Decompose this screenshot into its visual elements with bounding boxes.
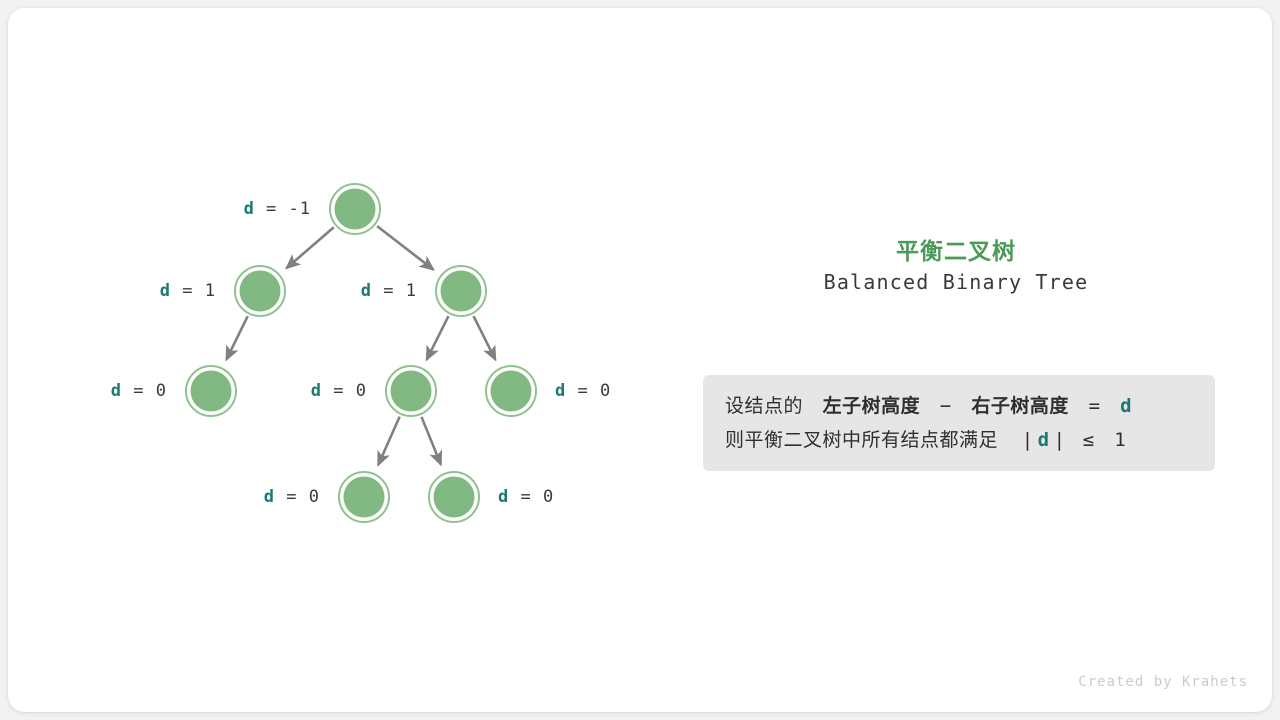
balance-factor-variable: d xyxy=(111,381,122,401)
tree-node-fill xyxy=(240,271,281,312)
balance-factor-value: = 0 xyxy=(509,487,554,507)
formula-bound-value: 1 xyxy=(1114,429,1126,451)
balance-factor-value: = 0 xyxy=(275,487,320,507)
tree-edge xyxy=(474,316,496,360)
tree-node xyxy=(330,184,380,234)
info-panel: 平衡二叉树 Balanced Binary Tree 设结点的 左子树高度 − … xyxy=(696,8,1276,712)
tree-edge xyxy=(427,316,449,360)
binary-tree-diagram: d = -1d = 1d = 1d = 0d = 0d = 0d = 0d = … xyxy=(8,8,688,712)
balance-factor-value: = 0 xyxy=(566,381,611,401)
tree-node-label: d = -1 xyxy=(244,199,311,219)
abs-bar-close: | xyxy=(1056,429,1063,451)
tree-edges xyxy=(226,226,495,465)
tree-edge xyxy=(226,316,247,359)
panel-title: 平衡二叉树 xyxy=(696,232,1216,266)
tree-node-fill xyxy=(391,371,432,412)
tree-node xyxy=(235,266,285,316)
tree-node-fill xyxy=(434,477,475,518)
footer-credit: Created by Krahets xyxy=(1078,674,1248,690)
tree-edge xyxy=(422,417,441,465)
balance-factor-value: = 0 xyxy=(322,381,367,401)
tree-node-label: d = 0 xyxy=(111,381,167,401)
balance-factor-variable: d xyxy=(498,487,509,507)
abs-bar-open: | xyxy=(1024,429,1031,451)
tree-node-label: d = 0 xyxy=(264,487,320,507)
balance-factor-value: = 0 xyxy=(122,381,167,401)
formula-prefix-1: 设结点的 xyxy=(725,395,803,417)
balance-factor-variable: d xyxy=(311,381,322,401)
tree-node-label: d = 1 xyxy=(160,281,216,301)
tree-edge xyxy=(286,227,333,268)
balance-factor-value: = 1 xyxy=(372,281,417,301)
tree-node xyxy=(429,472,479,522)
tree-node-fill xyxy=(335,189,376,230)
tree-edge xyxy=(377,226,433,269)
tree-node-label: d = 0 xyxy=(498,487,554,507)
tree-node xyxy=(436,266,486,316)
tree-svg xyxy=(8,8,688,712)
tree-node-fill xyxy=(441,271,482,312)
formula-prefix-2: 则平衡二叉树中所有结点都满足 xyxy=(725,429,998,451)
formula-line-1: 设结点的 左子树高度 − 右子树高度 = d xyxy=(725,389,1215,423)
tree-node-label: d = 1 xyxy=(361,281,417,301)
formula-variable-d-1: d xyxy=(1120,395,1132,417)
tree-node xyxy=(386,366,436,416)
balance-factor-variable: d xyxy=(160,281,171,301)
balance-factor-value: = 1 xyxy=(171,281,216,301)
content-card: d = -1d = 1d = 1d = 0d = 0d = 0d = 0d = … xyxy=(8,8,1272,712)
formula-equals-sign: = xyxy=(1089,395,1101,417)
formula-line-2: 则平衡二叉树中所有结点都满足 | d | ≤ 1 xyxy=(725,423,1215,457)
tree-node xyxy=(486,366,536,416)
formula-minus-operator: − xyxy=(940,395,952,417)
formula-relation-sign: ≤ xyxy=(1083,429,1095,451)
balance-factor-value: = -1 xyxy=(255,199,311,219)
balance-factor-variable: d xyxy=(361,281,372,301)
screenshot-root: d = -1d = 1d = 1d = 0d = 0d = 0d = 0d = … xyxy=(0,0,1280,720)
tree-node-fill xyxy=(344,477,385,518)
balance-factor-variable: d xyxy=(555,381,566,401)
tree-node-fill xyxy=(191,371,232,412)
formula-box: 设结点的 左子树高度 − 右子树高度 = d 则平衡二叉树中所有结点都满足 xyxy=(703,375,1215,471)
tree-node-label: d = 0 xyxy=(555,381,611,401)
formula-right-subtree-height: 右子树高度 xyxy=(971,395,1069,417)
tree-node xyxy=(339,472,389,522)
balance-factor-variable: d xyxy=(264,487,275,507)
tree-edge xyxy=(378,417,399,465)
panel-subtitle: Balanced Binary Tree xyxy=(696,270,1216,294)
tree-nodes xyxy=(186,184,536,522)
tree-node xyxy=(186,366,236,416)
tree-node-label: d = 0 xyxy=(311,381,367,401)
tree-node-fill xyxy=(491,371,532,412)
formula-variable-d-2: d xyxy=(1038,429,1050,451)
formula-left-subtree-height: 左子树高度 xyxy=(823,395,921,417)
balance-factor-variable: d xyxy=(244,199,255,219)
